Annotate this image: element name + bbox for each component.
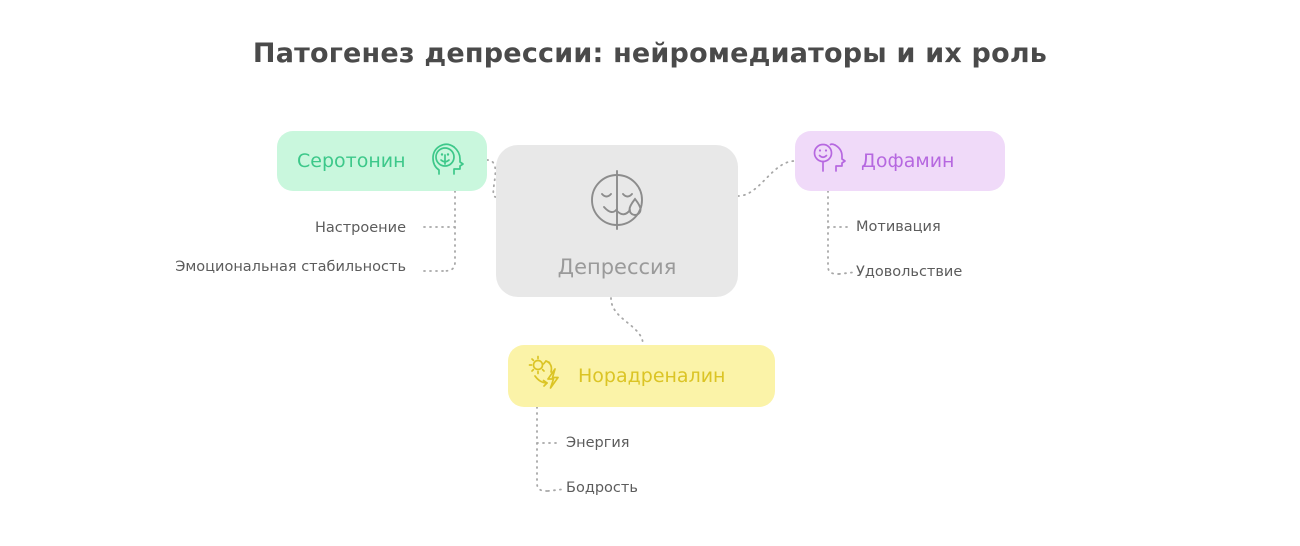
sub-label-dopamine-pleasure: Удовольствие — [856, 264, 962, 280]
sub-label-serotonin-emotional-stability: Эмоциональная стабильность — [175, 259, 406, 275]
connector-serotonin-to-central — [487, 160, 496, 197]
central-node-depression[interactable]: Депрессия — [496, 145, 738, 297]
connector-noradrenaline-branch-2 — [548, 489, 565, 491]
page-title: Патогенез депрессии: нейромедиаторы и их… — [0, 38, 1300, 69]
connector-serotonin-spine — [443, 191, 455, 271]
branch-node-noradrenaline[interactable]: Норадреналин — [508, 345, 775, 407]
sub-label-dopamine-motivation: Мотивация — [856, 219, 941, 235]
connector-central-to-noradrenaline — [611, 298, 643, 345]
connector-noradrenaline-spine — [537, 407, 548, 491]
branch-node-noradrenaline-label: Норадреналин — [578, 365, 725, 387]
connector-dopamine-spine — [828, 191, 839, 274]
connector-central-to-dopamine — [738, 161, 795, 196]
sub-label-noradrenaline-energy: Энергия — [566, 435, 630, 451]
sub-label-serotonin-mood: Настроение — [315, 220, 406, 236]
central-node-label: Депрессия — [558, 255, 677, 279]
diagram-canvas: Патогенез депрессии: нейромедиаторы и их… — [0, 0, 1300, 546]
sub-label-noradrenaline-vigor: Бодрость — [566, 480, 638, 496]
branch-node-serotonin-label: Серотонин — [297, 150, 406, 172]
branch-node-dopamine[interactable]: Дофамин — [795, 131, 1005, 191]
split-face-sad-happy-icon — [580, 163, 654, 241]
head-face-icon — [427, 140, 465, 182]
connector-dopamine-branch-2 — [839, 272, 856, 274]
branch-node-dopamine-label: Дофамин — [861, 150, 954, 172]
head-smiley-icon — [809, 139, 849, 183]
sun-lightning-icon — [524, 353, 566, 399]
branch-node-serotonin[interactable]: Серотонин — [277, 131, 487, 191]
